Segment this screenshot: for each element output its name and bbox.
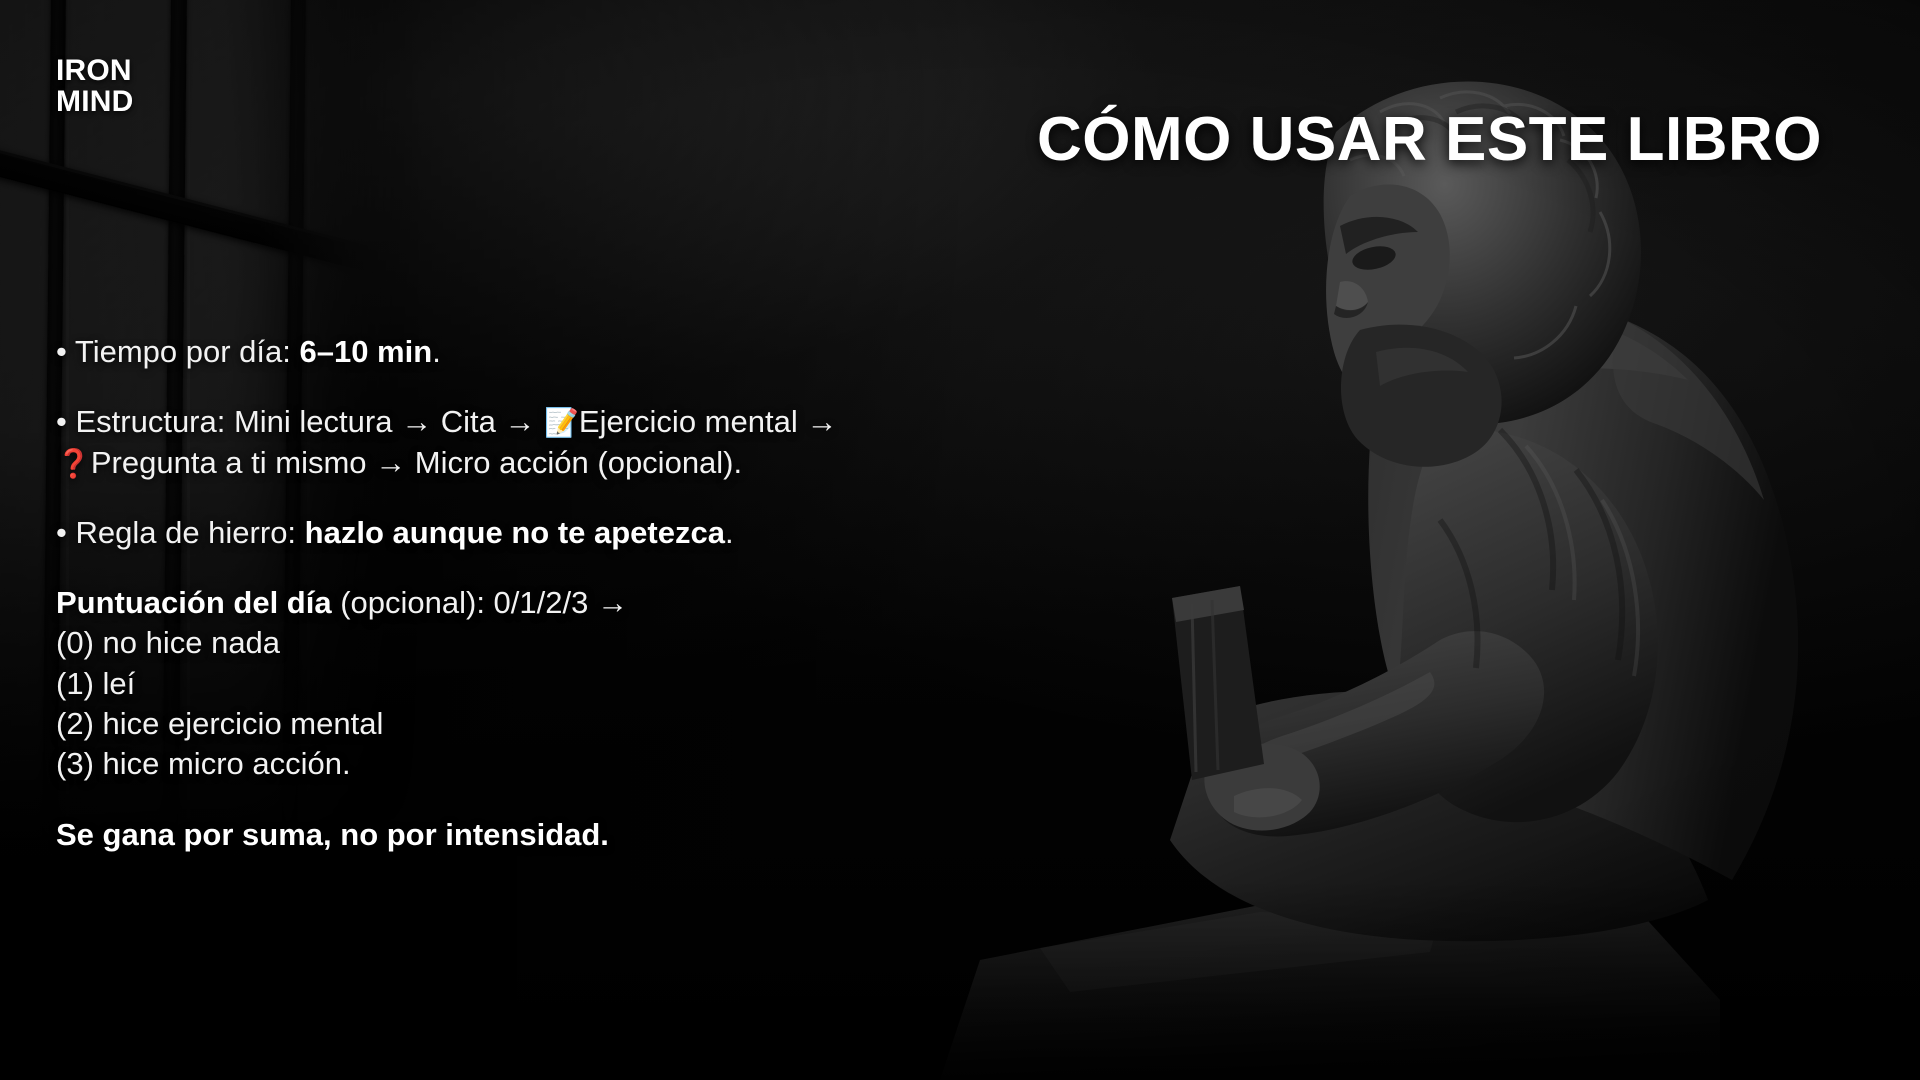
bullet-estructura-line2-text: Pregunta a ti mismo → Micro acción (opci… <box>91 445 742 480</box>
bullet-marker: • <box>56 404 67 439</box>
bullet-estructura-suffix: Ejercicio mental → <box>579 404 837 439</box>
bullet-regla-bold: hazlo aunque no te apetezca <box>305 515 725 550</box>
body-copy: • Tiempo por día: 6–10 min. • Estructura… <box>56 332 1066 855</box>
bullet-regla-suffix: . <box>725 515 734 550</box>
score-heading-bold: Puntuación del día <box>56 585 332 620</box>
score-heading: Puntuación del día (opcional): 0/1/2/3 → <box>56 583 1066 623</box>
bullet-regla-line: • Regla de hierro: hazlo aunque no te ap… <box>56 513 1066 553</box>
bullet-tiempo: • Tiempo por día: 6–10 min. <box>56 332 1066 372</box>
bullet-tiempo-prefix: Tiempo por día: <box>67 334 300 369</box>
bullet-regla: • Regla de hierro: hazlo aunque no te ap… <box>56 513 1066 553</box>
score-block: Puntuación del día (opcional): 0/1/2/3 →… <box>56 583 1066 784</box>
brand-line-mind: MIND <box>56 87 133 118</box>
page-title: CÓMO USAR ESTE LIBRO <box>1037 104 1822 175</box>
bullet-tiempo-bold: 6–10 min <box>299 334 432 369</box>
score-item: (2) hice ejercicio mental <box>56 704 1066 744</box>
bullet-tiempo-suffix: . <box>432 334 441 369</box>
question-mark-icon: ❓ <box>56 447 91 480</box>
score-item: (3) hice micro acción. <box>56 744 1066 784</box>
bullet-estructura-prefix: Estructura: Mini lectura → Cita → <box>67 404 544 439</box>
brand-logo: IRON MIND <box>56 56 133 118</box>
bullet-tiempo-line: • Tiempo por día: 6–10 min. <box>56 332 1066 372</box>
bullet-estructura: • Estructura: Mini lectura → Cita → 📝Eje… <box>56 402 1066 483</box>
bullet-estructura-line-2: ❓Pregunta a ti mismo → Micro acción (opc… <box>56 443 1066 483</box>
closing-block: Se gana por suma, no por intensidad. <box>56 815 1066 855</box>
memo-icon: 📝 <box>544 406 579 439</box>
bullet-regla-prefix: Regla de hierro: <box>67 515 305 550</box>
closing-statement: Se gana por suma, no por intensidad. <box>56 815 1066 855</box>
score-item: (0) no hice nada <box>56 623 1066 663</box>
brand-line-iron: IRON <box>56 56 133 87</box>
bullet-marker: • <box>56 515 67 550</box>
score-item: (1) leí <box>56 664 1066 704</box>
score-heading-rest: (opcional): 0/1/2/3 → <box>332 585 628 620</box>
bullet-marker: • <box>56 334 67 369</box>
bullet-estructura-line-1: • Estructura: Mini lectura → Cita → 📝Eje… <box>56 402 1066 442</box>
slide-content: IRON MIND CÓMO USAR ESTE LIBRO • Tiempo … <box>0 0 1920 1080</box>
slide: IRON MIND CÓMO USAR ESTE LIBRO • Tiempo … <box>0 0 1920 1080</box>
